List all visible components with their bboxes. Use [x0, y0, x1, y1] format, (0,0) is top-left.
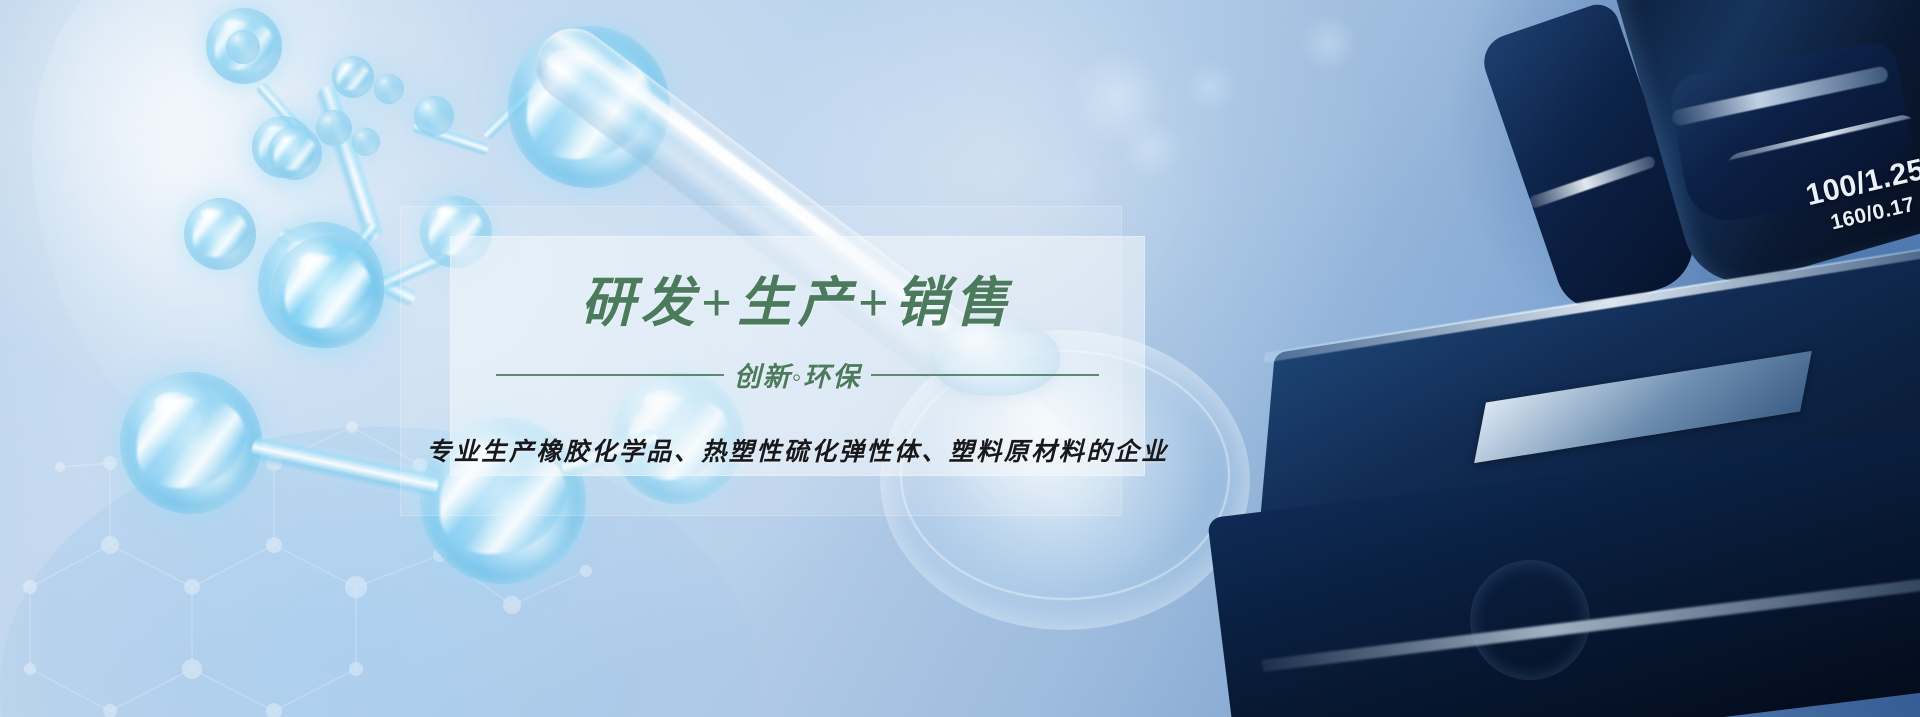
subtitle: 创新◦环保: [724, 355, 872, 394]
subtitle-row: 创新◦环保: [450, 355, 1145, 394]
page-title: 研发+生产+销售: [581, 258, 1015, 337]
divider-right: [871, 374, 1099, 376]
divider-left: [496, 374, 724, 376]
tagline: 专业生产橡胶化学品、热塑性硫化弹性体、塑料原材料的企业: [426, 432, 1169, 468]
hero-banner: 100/1.25 160/0.17 100 40 研发+生产+销售 创新◦环保 …: [0, 0, 1920, 717]
banner-content: 研发+生产+销售 创新◦环保 专业生产橡胶化学品、热塑性硫化弹性体、塑料原材料的…: [450, 236, 1145, 476]
microscope-graphic: 100/1.25 160/0.17 100 40: [1280, 0, 1920, 717]
microscope-focus-knob: [1470, 560, 1590, 680]
